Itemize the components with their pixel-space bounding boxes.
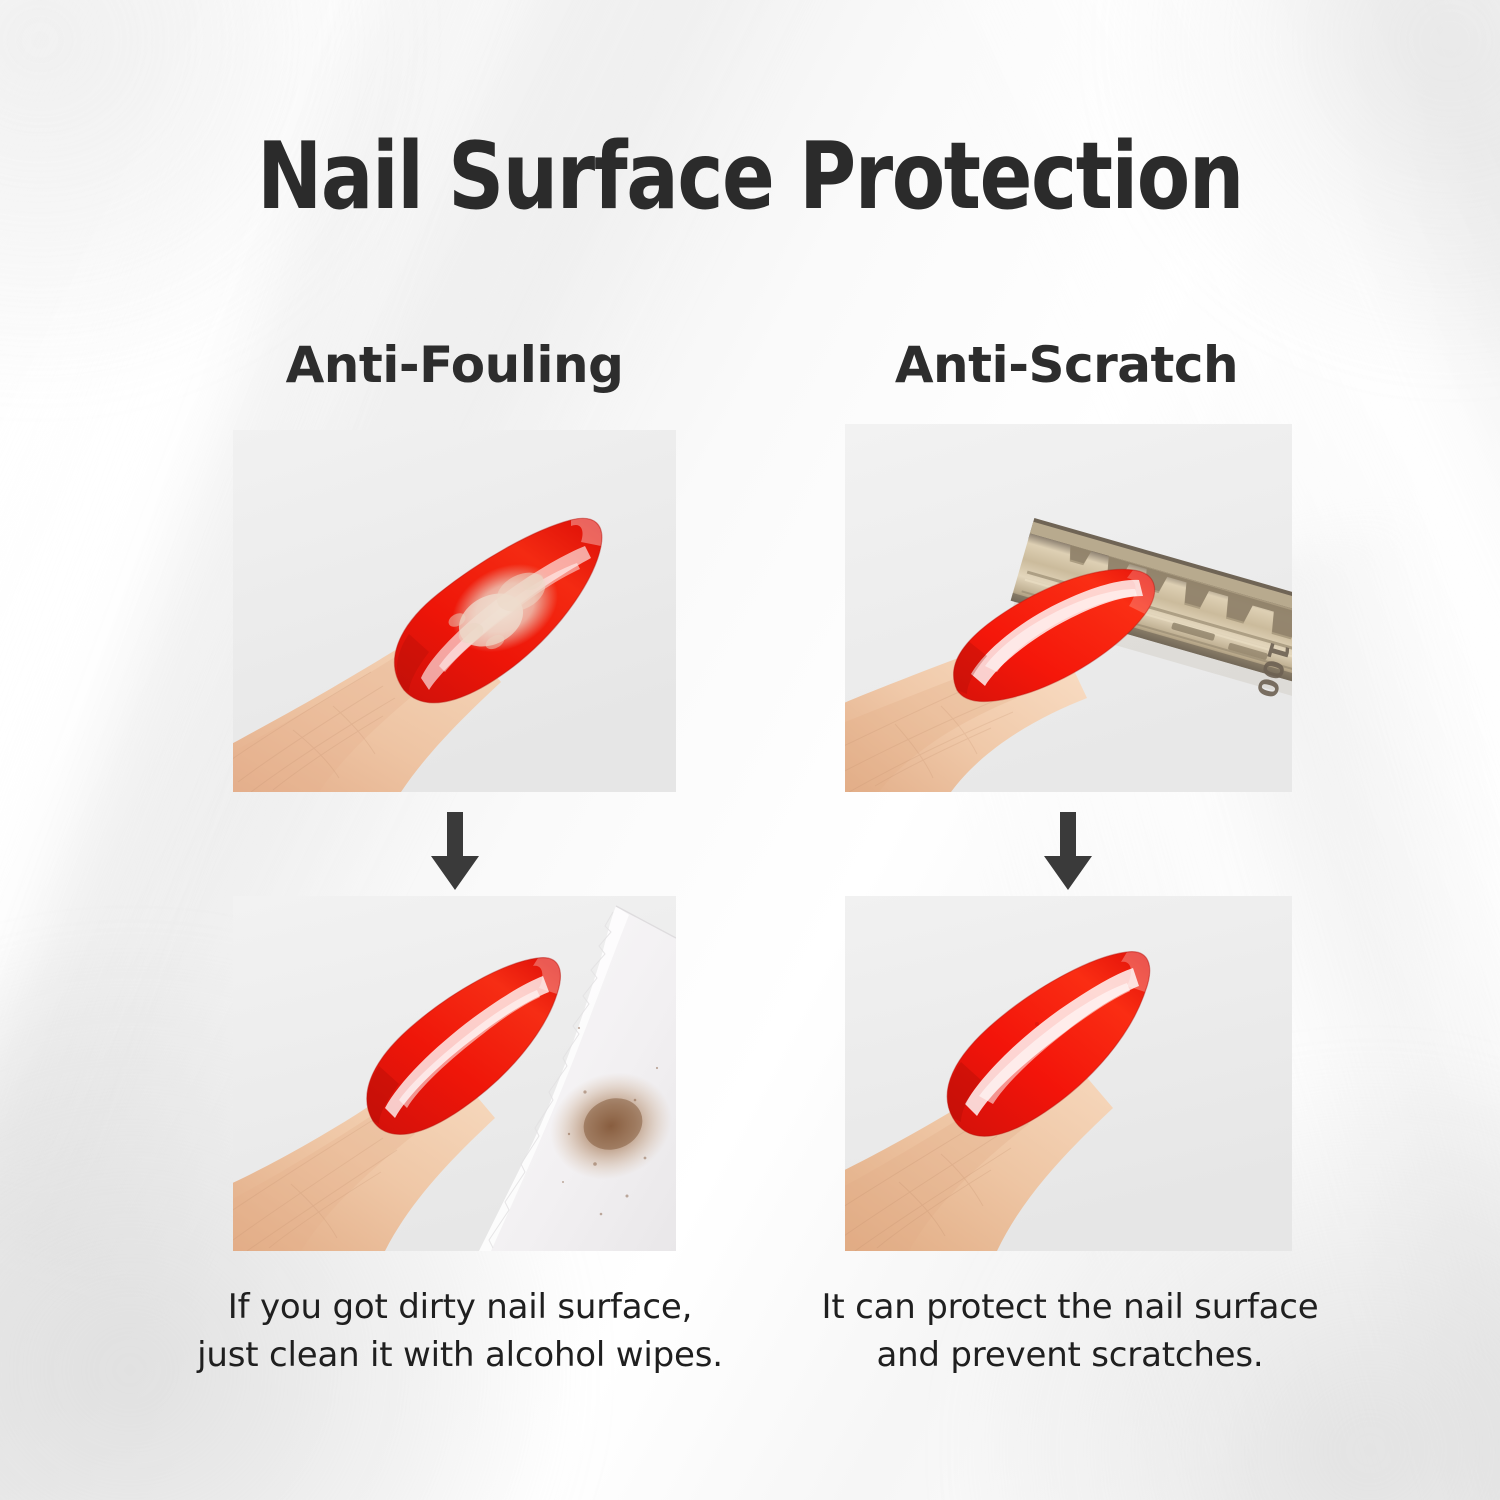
- caption-line: It can protect the nail surface: [790, 1283, 1350, 1331]
- key-scratching-nail-photo: 100: [845, 424, 1292, 792]
- cleaned-nail-with-wipe-photo: [233, 896, 676, 1251]
- down-arrow-icon: [1041, 812, 1095, 892]
- caption-anti-fouling: If you got dirty nail surface, just clea…: [180, 1283, 740, 1380]
- dirty-nail-photo: [233, 430, 676, 792]
- infographic-page: Nail Surface Protection Anti-Fouling: [0, 0, 1500, 1500]
- caption-line: If you got dirty nail surface,: [180, 1283, 740, 1331]
- caption-line: and prevent scratches.: [790, 1331, 1350, 1379]
- caption-line: just clean it with alcohol wipes.: [180, 1331, 740, 1379]
- column-heading-anti-scratch: Anti-Scratch: [845, 340, 1288, 390]
- caption-anti-scratch: It can protect the nail surface and prev…: [790, 1283, 1350, 1380]
- down-arrow-icon: [428, 812, 482, 892]
- column-heading-anti-fouling: Anti-Fouling: [233, 340, 676, 390]
- page-title: Nail Surface Protection: [53, 130, 1448, 223]
- unscratched-nail-photo: [845, 896, 1292, 1251]
